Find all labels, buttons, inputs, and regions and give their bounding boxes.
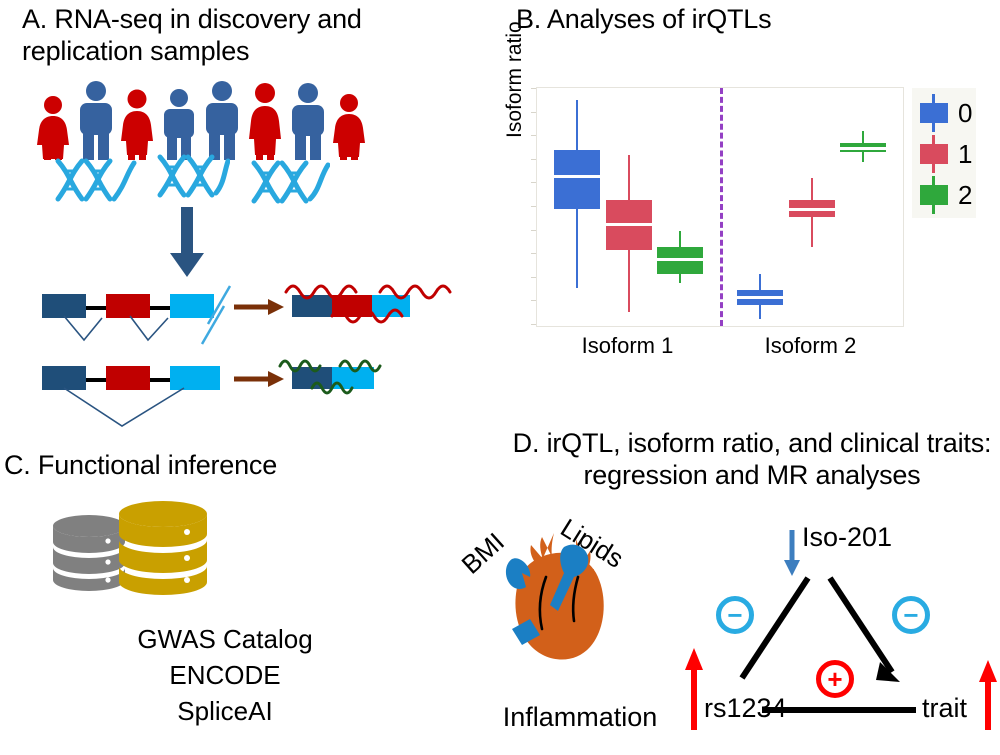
mr-node-trait: trait: [922, 693, 967, 724]
mrna-squiggles-isoform-1: [282, 280, 462, 330]
cohort-people-group: [32, 80, 332, 160]
legend-key-box: [920, 144, 948, 164]
source-item-1: ENCODE: [0, 658, 450, 694]
y-axis-tick: [531, 206, 536, 207]
trait-label-inflammation: Inflammation: [450, 702, 710, 733]
panel-a-title: A. RNA-seq in discovery and replication …: [22, 4, 462, 68]
dna-helix-1: [54, 157, 138, 203]
processing-arrow-icon-1: [234, 298, 284, 316]
legend-label: 2: [958, 180, 972, 211]
y-axis-tick: [531, 300, 536, 301]
heart-icon: [490, 525, 630, 675]
database-gold-icon: [116, 500, 210, 596]
source-item-0: GWAS Catalog: [0, 622, 450, 658]
panel-d: D. irQTL, isoform ratio, and clinical tr…: [450, 420, 1000, 755]
x-axis-category-label: Isoform 2: [719, 333, 902, 359]
legend-key-box: [920, 103, 948, 123]
boxplot-median-line: [840, 147, 886, 150]
panel-c-title: C. Functional inference: [4, 450, 277, 482]
splice-junction-lines-2: [38, 386, 238, 430]
person-female-2: [116, 88, 158, 160]
legend-label: 0: [958, 98, 972, 129]
functional-sources-list: GWAS Catalog ENCODE SpliceAI: [0, 622, 450, 730]
legend-color-key: [920, 94, 948, 132]
cut-slash-icon: [188, 284, 240, 346]
legend-label: 1: [958, 139, 972, 170]
y-axis-tick: [531, 253, 536, 254]
panel-b-title: B. Analyses of irQTLs: [516, 4, 771, 36]
y-axis-tick: [531, 324, 536, 325]
source-item-2: SpliceAI: [0, 694, 450, 730]
y-axis-tick: [531, 277, 536, 278]
panel-a: A. RNA-seq in discovery and replication …: [14, 2, 466, 422]
mr-node-snp: rs1234: [704, 693, 787, 724]
y-axis-tick: [531, 182, 536, 183]
x-axis-category-label: Isoform 1: [536, 333, 719, 359]
legend-item[interactable]: 0: [912, 94, 976, 134]
edge-sign-snp-trait: +: [816, 660, 854, 698]
legend-color-key: [920, 135, 948, 173]
y-axis-tick: [531, 112, 536, 113]
y-axis-tick: [531, 135, 536, 136]
legend-item[interactable]: 1: [912, 135, 976, 175]
panel-d-title: D. irQTL, isoform ratio, and clinical tr…: [502, 428, 1000, 492]
person-female-1: [32, 94, 74, 160]
mr-diagram: Iso-201 rs1234 trait − − +: [680, 530, 1000, 730]
legend-key-box: [920, 185, 948, 205]
down-arrow-icon: [164, 207, 210, 279]
dna-helix-2: [156, 153, 230, 199]
person-male-3: [200, 80, 244, 160]
mr-node-isoform: Iso-201: [802, 522, 892, 553]
legend-color-key: [920, 176, 948, 214]
mrna-squiggles-isoform-2: [276, 354, 436, 402]
panel-c: C. Functional inference: [0, 430, 450, 755]
dna-helix-3: [250, 159, 330, 205]
edge-sign-isoform-trait: −: [892, 596, 930, 634]
y-axis-label: Isoform ratio: [503, 21, 527, 138]
y-axis-tick: [531, 159, 536, 160]
box-layer: [537, 88, 903, 326]
boxplot-chart: Isoform ratio: [536, 87, 904, 327]
y-axis-tick: [531, 230, 536, 231]
person-male-1: [74, 80, 118, 160]
person-male-4: [286, 82, 330, 160]
legend-item[interactable]: 2: [912, 176, 976, 216]
boxplot-box: [537, 88, 903, 326]
genotype-legend: 012: [912, 88, 976, 218]
person-male-2: [158, 88, 200, 160]
database-icons-group: [50, 500, 250, 600]
person-female-4: [328, 92, 370, 160]
panel-b: B. Analyses of irQTLs Isoform ratio 012 …: [512, 2, 1000, 402]
edge-sign-snp-isoform: −: [716, 596, 754, 634]
person-female-3: [244, 82, 286, 160]
dna-helix-group: [54, 157, 334, 203]
y-axis-tick: [531, 88, 536, 89]
